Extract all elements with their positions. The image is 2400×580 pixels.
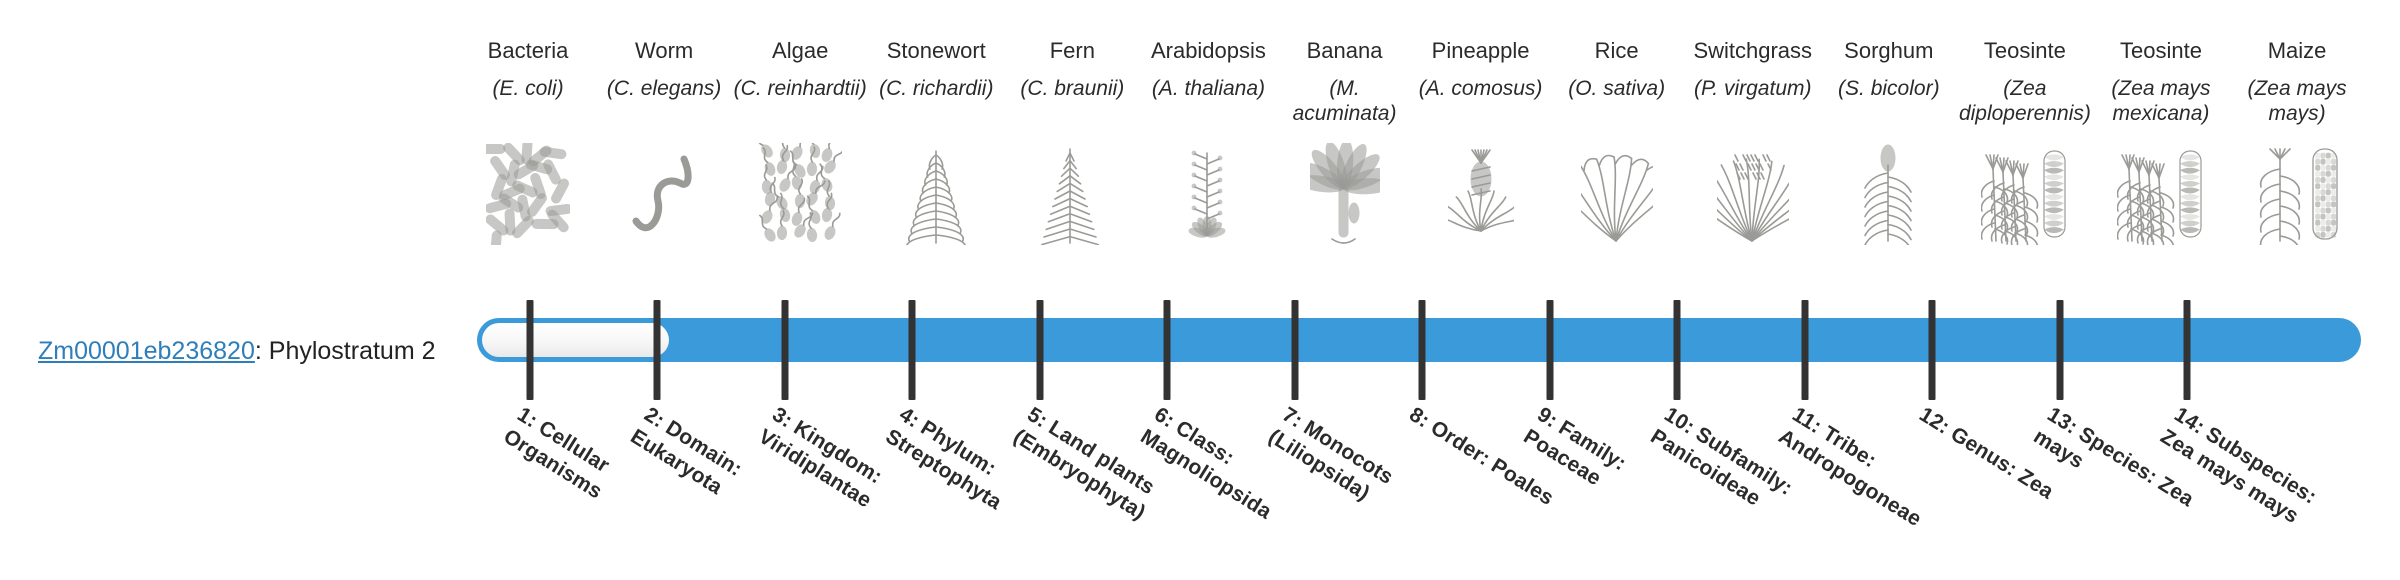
pineapple-plant-illustration: [1448, 140, 1514, 245]
species-common-name: Teosinte: [2120, 38, 2202, 68]
species-latin-name: (Zea mays mays): [2229, 68, 2365, 134]
species-latin-name: (Zea diploperennis): [1957, 68, 2093, 134]
nematode-worm-illustration: [628, 140, 700, 245]
gene-label-separator: :: [255, 337, 269, 365]
species-common-name: Arabidopsis: [1151, 38, 1266, 68]
species-common-name: Teosinte: [1984, 38, 2066, 68]
species-latin-name: (A. thaliana): [1140, 68, 1276, 134]
phylostratum-tick[interactable]: [2056, 300, 2063, 400]
phylostratum-tick[interactable]: [1929, 300, 1936, 400]
species-strip: Bacteria(E. coli)Worm(C. elegans)Algae(C…: [460, 38, 2365, 308]
switchgrass-illustration: [1717, 140, 1789, 245]
bacteria-illustration: [486, 140, 570, 245]
phylostratum-timeline[interactable]: [477, 300, 2361, 400]
species-column: Fern(C. braunii): [1004, 38, 1140, 245]
species-latin-name: (C. braunii): [1004, 68, 1140, 134]
species-column: Maize(Zea mays mays): [2229, 38, 2365, 245]
arabidopsis-illustration: [1175, 140, 1241, 245]
species-latin-name: (M. acuminata): [1276, 68, 1412, 134]
stonewort-illustration: [904, 140, 968, 245]
species-latin-name: (Zea mays mexicana): [2093, 68, 2229, 134]
phylostratum-tick[interactable]: [654, 300, 661, 400]
phylostratum-tick[interactable]: [1546, 300, 1553, 400]
species-latin-name: (C. richardii): [868, 68, 1004, 134]
phylostratum-tick[interactable]: [1801, 300, 1808, 400]
species-column: Teosinte(Zea mays mexicana): [2093, 38, 2229, 245]
phylostratum-tick[interactable]: [1164, 300, 1171, 400]
species-column: Teosinte(Zea diploperennis): [1957, 38, 2093, 245]
species-common-name: Banana: [1307, 38, 1383, 68]
sorghum-plant-illustration: [1855, 140, 1923, 245]
phylostratum-tick[interactable]: [1674, 300, 1681, 400]
species-latin-name: (O. sativa): [1549, 68, 1685, 134]
rank-label-group: 1: Cellular Organisms2: Domain: Eukaryot…: [477, 402, 2361, 580]
phylostratum-tick[interactable]: [2184, 300, 2191, 400]
species-latin-name: (P. virgatum): [1685, 68, 1821, 134]
species-column: Arabidopsis(A. thaliana): [1140, 38, 1276, 245]
species-column: Bacteria(E. coli): [460, 38, 596, 245]
fern-illustration: [1037, 140, 1107, 245]
species-common-name: Pineapple: [1432, 38, 1530, 68]
phylostratum-tick[interactable]: [1036, 300, 1043, 400]
species-column: Stonewort(C. richardii): [868, 38, 1004, 245]
species-common-name: Switchgrass: [1693, 38, 1812, 68]
species-common-name: Maize: [2268, 38, 2327, 68]
species-common-name: Algae: [772, 38, 828, 68]
phylostratum-value: Phylostratum 2: [269, 337, 436, 365]
gene-phylostratum-label: Zm00001eb236820: Phylostratum 2: [38, 336, 436, 366]
species-common-name: Stonewort: [887, 38, 986, 68]
species-column: Banana(M. acuminata): [1276, 38, 1412, 245]
phylostratum-progress-unfilled: [482, 323, 669, 357]
gene-id-link[interactable]: Zm00001eb236820: [38, 337, 255, 365]
phylostratum-tick[interactable]: [1419, 300, 1426, 400]
species-column: Worm(C. elegans): [596, 38, 732, 245]
species-latin-name: (S. bicolor): [1821, 68, 1957, 134]
phylostratum-tick[interactable]: [527, 300, 534, 400]
species-column: Sorghum(S. bicolor): [1821, 38, 1957, 245]
teosinte-plant-and-ear-illustration: [1981, 140, 2068, 245]
species-common-name: Fern: [1050, 38, 1095, 68]
species-common-name: Sorghum: [1844, 38, 1933, 68]
species-common-name: Worm: [635, 38, 693, 68]
algae-cells-illustration: [758, 140, 842, 245]
rice-plant-illustration: [1581, 140, 1653, 245]
species-latin-name: (A. comosus): [1413, 68, 1549, 134]
species-latin-name: (C. elegans): [596, 68, 732, 134]
banana-plant-illustration: [1310, 140, 1380, 245]
species-column: Switchgrass(P. virgatum): [1685, 38, 1821, 245]
species-common-name: Rice: [1595, 38, 1639, 68]
maize-plant-and-cob-illustration: [2254, 140, 2341, 245]
teosinte-plant-and-ear-illustration: [2117, 140, 2204, 245]
phylostratum-tick[interactable]: [781, 300, 788, 400]
species-column: Pineapple(A. comosus): [1413, 38, 1549, 245]
phylostratum-tick[interactable]: [1291, 300, 1298, 400]
phylostratum-tick[interactable]: [909, 300, 916, 400]
species-common-name: Bacteria: [488, 38, 569, 68]
species-column: Rice(O. sativa): [1549, 38, 1685, 245]
species-latin-name: (E. coli): [460, 68, 596, 134]
species-column: Algae(C. reinhardtii): [732, 38, 868, 245]
species-latin-name: (C. reinhardtii): [732, 68, 868, 134]
